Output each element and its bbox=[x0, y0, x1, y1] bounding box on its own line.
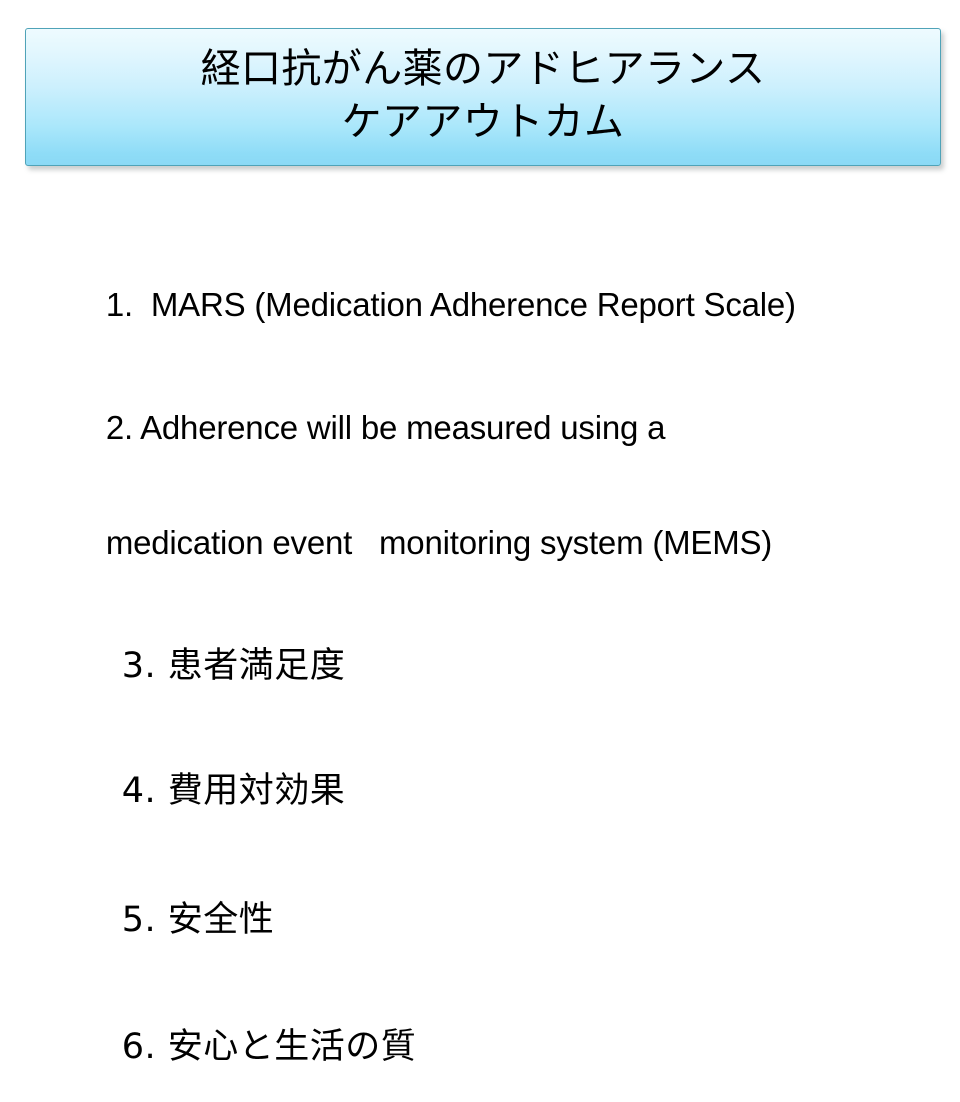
list-item-1-text: MARS (Medication Adherence Report Scale) bbox=[133, 286, 796, 323]
list-item-4-text: 費用対効果 bbox=[156, 771, 345, 811]
numbered-list: 1. MARS (Medication Adherence Report Sca… bbox=[52, 243, 928, 1100]
list-item-6-number: 6. bbox=[122, 1027, 156, 1067]
list-item-2-continuation-text: medication event monitoring system (MEMS… bbox=[106, 524, 772, 561]
list-item-3-number: 3. bbox=[122, 646, 156, 686]
list-item-1-number: 1. bbox=[106, 286, 133, 323]
slide-canvas: 経口抗がん薬のアドヒアランス ケアアウトカム 1. MARS (Medicati… bbox=[0, 0, 960, 720]
list-item-5-number: 5. bbox=[122, 900, 156, 940]
list-item-4: 4. 費用対効果 bbox=[52, 739, 928, 844]
list-item-2-continuation: medication event monitoring system (MEMS… bbox=[52, 493, 928, 592]
list-item-5: 5. 安全性 bbox=[52, 868, 928, 973]
page-title: 経口抗がん薬のアドヒアランス ケアアウトカム bbox=[26, 43, 940, 151]
list-item-3: 3. 患者満足度 bbox=[52, 614, 928, 719]
slide-title-box: 経口抗がん薬のアドヒアランス ケアアウトカム bbox=[25, 28, 941, 166]
list-item-2: 2. Adherence will be measured using a bbox=[52, 378, 928, 477]
list-item-6: 6. 安心と生活の質 bbox=[52, 995, 928, 1100]
list-item-5-text: 安全性 bbox=[156, 900, 274, 940]
list-item-3-text: 患者満足度 bbox=[156, 646, 345, 686]
title-line-2: ケアアウトカム bbox=[26, 96, 940, 149]
title-line-1: 経口抗がん薬のアドヒアランス bbox=[26, 43, 940, 96]
list-item-2-text: Adherence will be measured using a bbox=[133, 409, 665, 446]
list-item-2-number: 2. bbox=[106, 409, 133, 446]
list-item-6-text: 安心と生活の質 bbox=[156, 1027, 416, 1067]
list-item-1: 1. MARS (Medication Adherence Report Sca… bbox=[52, 255, 928, 354]
list-item-4-number: 4. bbox=[122, 771, 156, 811]
